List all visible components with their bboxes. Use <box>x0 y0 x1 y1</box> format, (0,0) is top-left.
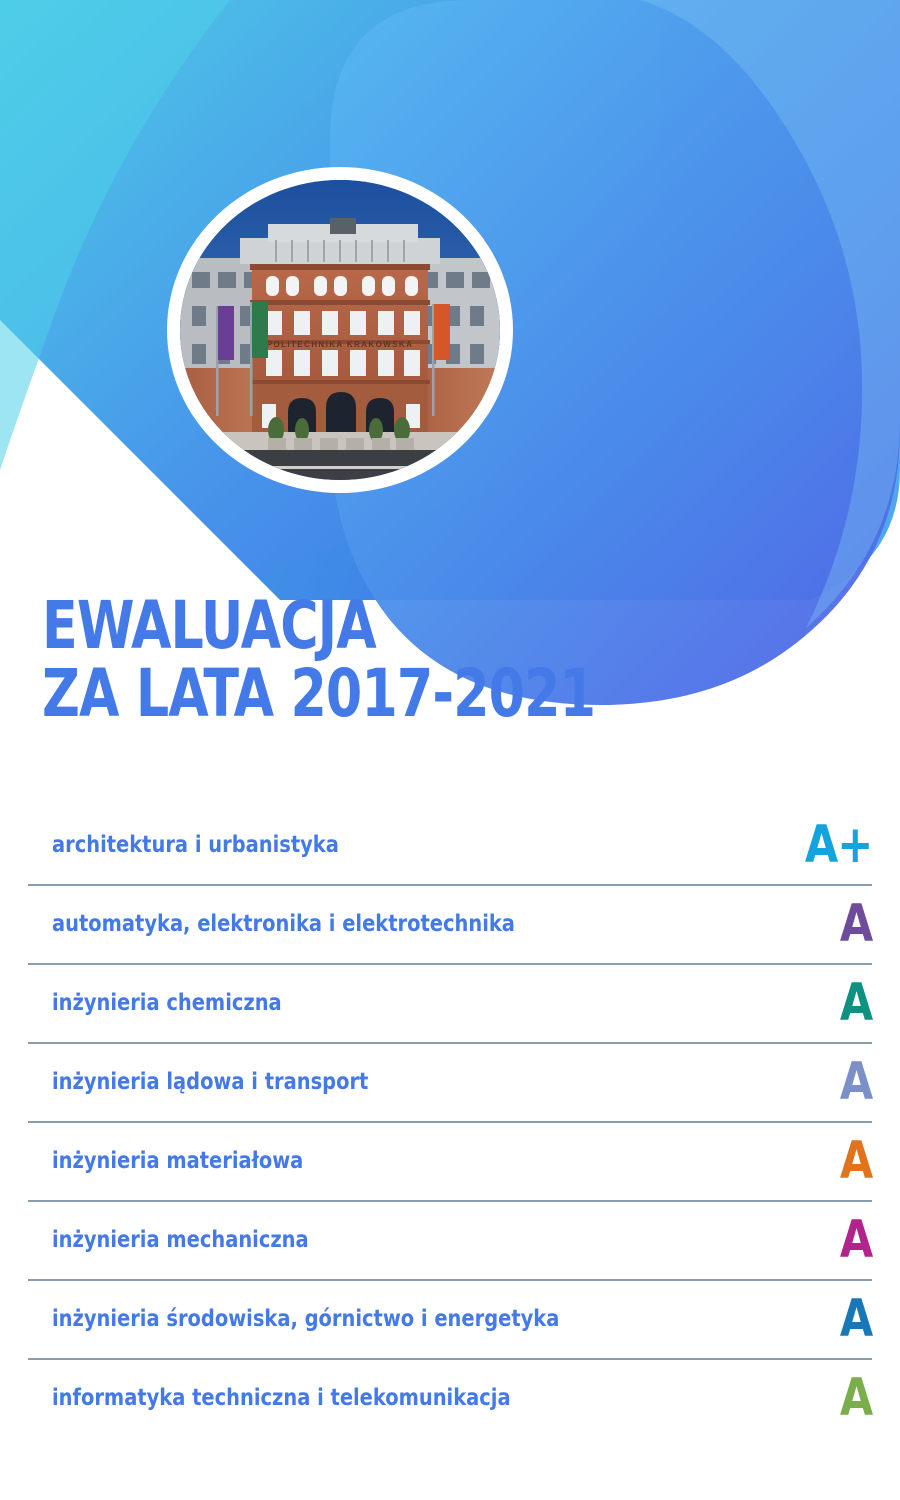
table-row: inżynieria lądowa i transport A <box>0 1042 900 1121</box>
table-row: inżynieria mechaniczna A <box>0 1200 900 1279</box>
grade-badge: A <box>840 1372 872 1424</box>
discipline-label: inżynieria lądowa i transport <box>52 1069 368 1095</box>
discipline-label: inżynieria chemiczna <box>52 990 282 1016</box>
discipline-label: automatyka, elektronika i elektrotechnik… <box>52 911 515 937</box>
table-row: inżynieria chemiczna A <box>0 963 900 1042</box>
grade-badge: A <box>840 1293 872 1345</box>
discipline-grade-list: architektura i urbanistyka A+ automatyka… <box>0 805 900 1437</box>
grade-badge: A <box>840 1135 872 1187</box>
grade-badge: A+ <box>804 819 872 871</box>
evaluation-poster: POLITECHNIKA KRAKOWSKA <box>0 0 900 1500</box>
grade-badge: A <box>840 1056 872 1108</box>
table-row: inżynieria środowiska, górnictwo i energ… <box>0 1279 900 1358</box>
photo-medallion-ring: POLITECHNIKA KRAKOWSKA <box>167 167 513 493</box>
grade-badge: A <box>840 977 872 1029</box>
discipline-label: architektura i urbanistyka <box>52 832 339 858</box>
table-row: architektura i urbanistyka A+ <box>0 805 900 884</box>
discipline-label: inżynieria materiałowa <box>52 1148 303 1174</box>
table-row: inżynieria materiałowa A <box>0 1121 900 1200</box>
grade-badge: A <box>840 1214 872 1266</box>
svg-text:POLITECHNIKA KRAKOWSKA: POLITECHNIKA KRAKOWSKA <box>267 340 414 349</box>
discipline-label: informatyka techniczna i telekomunikacja <box>52 1385 511 1411</box>
politechnika-krakowska-building-photo: POLITECHNIKA KRAKOWSKA <box>180 180 500 480</box>
table-row: automatyka, elektronika i elektrotechnik… <box>0 884 900 963</box>
grade-badge: A <box>840 898 872 950</box>
table-row: informatyka techniczna i telekomunikacja… <box>0 1358 900 1437</box>
discipline-label: inżynieria środowiska, górnictwo i energ… <box>52 1306 559 1332</box>
discipline-label: inżynieria mechaniczna <box>52 1227 309 1253</box>
page-title: EWALUACJA ZA LATA 2017-2021 <box>42 592 662 728</box>
page-title-line-2: ZA LATA 2017-2021 <box>42 660 588 728</box>
page-title-line-1: EWALUACJA <box>42 592 588 660</box>
